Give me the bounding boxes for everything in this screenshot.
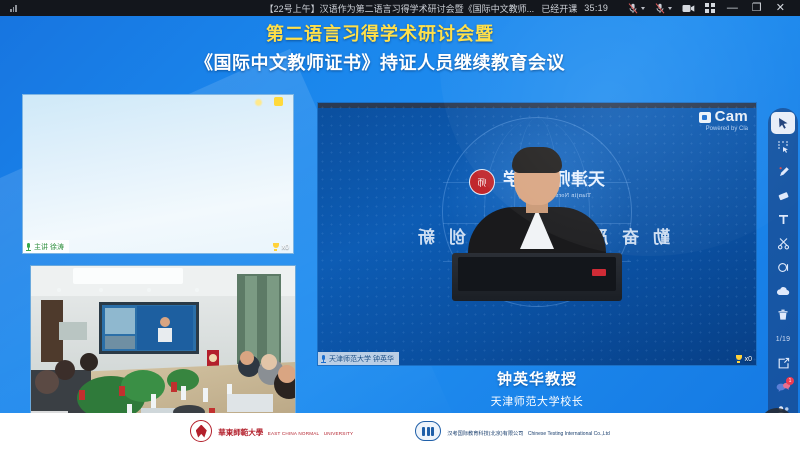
main-video-nametag: 天津师范大学 钟英华 [318,352,399,365]
signal-strength-icon [10,4,19,12]
grid-layout-button[interactable] [700,0,720,16]
title-bar: 【22号上午】汉语作为第二语言习得学术研讨会暨《国际中文教师... 已经开课 3… [0,0,800,16]
sponsor-logo-bar: 華東師範大學 EAST CHINA NORMAL UNIVERSITY 汉考国际… [0,413,800,449]
cti-name-cn: 汉考国际教育科技(北京)有限公司 [447,431,523,437]
ecnu-name-en-1: EAST CHINA NORMAL [268,431,320,436]
text-icon [777,213,790,226]
camera-muted-button[interactable] [650,0,677,16]
chat-button[interactable]: 1 [771,376,795,398]
close-button[interactable]: ✕ [769,0,792,16]
award-counter: x0 [272,243,289,251]
participant-nametag: 主讲 徐涛 [23,240,69,253]
eraser-icon [777,189,790,202]
speaker-figure [442,151,632,291]
video-record-icon [682,4,695,13]
tool-shapes[interactable] [771,256,795,278]
watermark-text: Cam [715,109,748,126]
trophy-icon [735,355,743,363]
chat-unread-badge: 1 [786,377,794,385]
main-video-award-counter: x0 [735,355,752,363]
page-indicator-text: 1/19 [776,336,790,343]
main-video-participant-name: 天津师范大学 钟英华 [329,354,394,364]
chevron-down-icon[interactable] [641,7,645,10]
ecnu-logo-icon [190,420,212,442]
chevron-down-icon[interactable] [668,7,672,10]
cloud-upload-icon [776,286,790,297]
meeting-stage: 第二语言习得学术研讨会暨 《国际中文教师证书》持证人员继续教育会议 主讲 徐涛 … [0,16,800,449]
minimize-button[interactable]: — [720,0,745,16]
lasso-select-icon [777,141,790,154]
grid-layout-icon [705,3,715,13]
screenshot-icon [777,357,790,370]
class-timer: 35:19 [584,3,608,13]
tool-clear[interactable] [771,304,795,326]
meeting-room-photo [31,266,295,424]
ecnu-name-cn: 華東師範大學 [218,428,263,437]
laptop-decoration [452,253,622,301]
class-status-label: 已经开课 [541,2,577,15]
page-indicator: 1/19 [771,328,795,350]
annotation-toolbar: 1/19 1 [768,108,798,428]
microphone-muted-icon [628,3,638,14]
microphone-icon [321,355,326,363]
event-header: 第二语言习得学术研讨会暨 《国际中文教师证书》持证人员继续教育会议 [0,20,760,75]
microphone-icon [26,243,31,251]
tool-select[interactable] [771,112,795,134]
pen-brush-icon [777,165,790,178]
trash-icon [777,309,789,321]
participant-tile-meeting-room[interactable]: 会议室 [30,265,296,425]
meeting-window: 【22号上午】汉语作为第二语言习得学术研讨会暨《国际中文教师... 已经开课 3… [0,0,800,449]
background-brand-cn: 天津师范大学 [503,165,605,190]
tool-cut[interactable] [771,232,795,254]
restore-button[interactable]: ❐ [745,0,769,16]
camera-watermark-icon [699,112,711,123]
microphone-muted-button[interactable] [623,0,650,16]
speaker-title-1: 天津师范大学校长 [317,393,757,409]
screenshot-button[interactable] [771,352,795,374]
cursor-pointer-icon [777,117,790,130]
participant-tile-blank[interactable]: 主讲 徐涛 x0 [22,94,294,254]
meeting-title: 【22号上午】汉语作为第二语言习得学术研讨会暨《国际中文教师... [265,2,535,15]
title-bar-center: 【22号上午】汉语作为第二语言习得学术研讨会暨《国际中文教师... 已经开课 3… [250,2,623,15]
camera-watermark: Cam Powered by Cla [699,109,748,132]
logo-cti: 汉考国际教育科技(北京)有限公司 Chinese Testing Interna… [415,421,609,441]
ecnu-name-en-2: UNIVERSITY [324,431,354,436]
tool-eraser[interactable] [771,184,795,206]
tool-cloud[interactable] [771,280,795,302]
shapes-circle-icon [777,261,790,274]
trophy-icon [272,243,280,251]
event-title-line1: 第二语言习得学术研讨会暨 [0,20,760,46]
award-count: x0 [282,244,289,251]
speaker-name: 钟英华教授 [317,368,757,389]
title-bar-controls: — ❐ ✕ [623,0,800,16]
participant-name: 主讲 徐涛 [34,242,64,252]
video-record-button[interactable] [677,0,700,16]
tool-pen[interactable] [771,160,795,182]
camera-muted-icon [655,3,665,14]
watermark-subtext: Powered by Cla [699,126,748,133]
cti-name-en: Chinese Testing International Co.,Ltd [528,431,610,437]
scissors-icon [777,237,790,250]
tool-text[interactable] [771,208,795,230]
tool-lasso[interactable] [771,136,795,158]
cti-logo-icon [415,421,441,441]
glare-decoration [274,97,283,106]
logo-ecnu: 華東師範大學 EAST CHINA NORMAL UNIVERSITY [190,420,353,442]
event-title-line2: 《国际中文教师证书》持证人员继续教育会议 [0,49,760,75]
main-video-tile[interactable]: 天津师范大学 Tianjin Normal University 师 勤奋严谨 … [317,102,757,366]
award-count: x0 [745,356,752,363]
glare-decoration [254,98,263,107]
title-bar-left [0,4,250,12]
background-brand-en: Tianjin Normal University [517,193,591,199]
